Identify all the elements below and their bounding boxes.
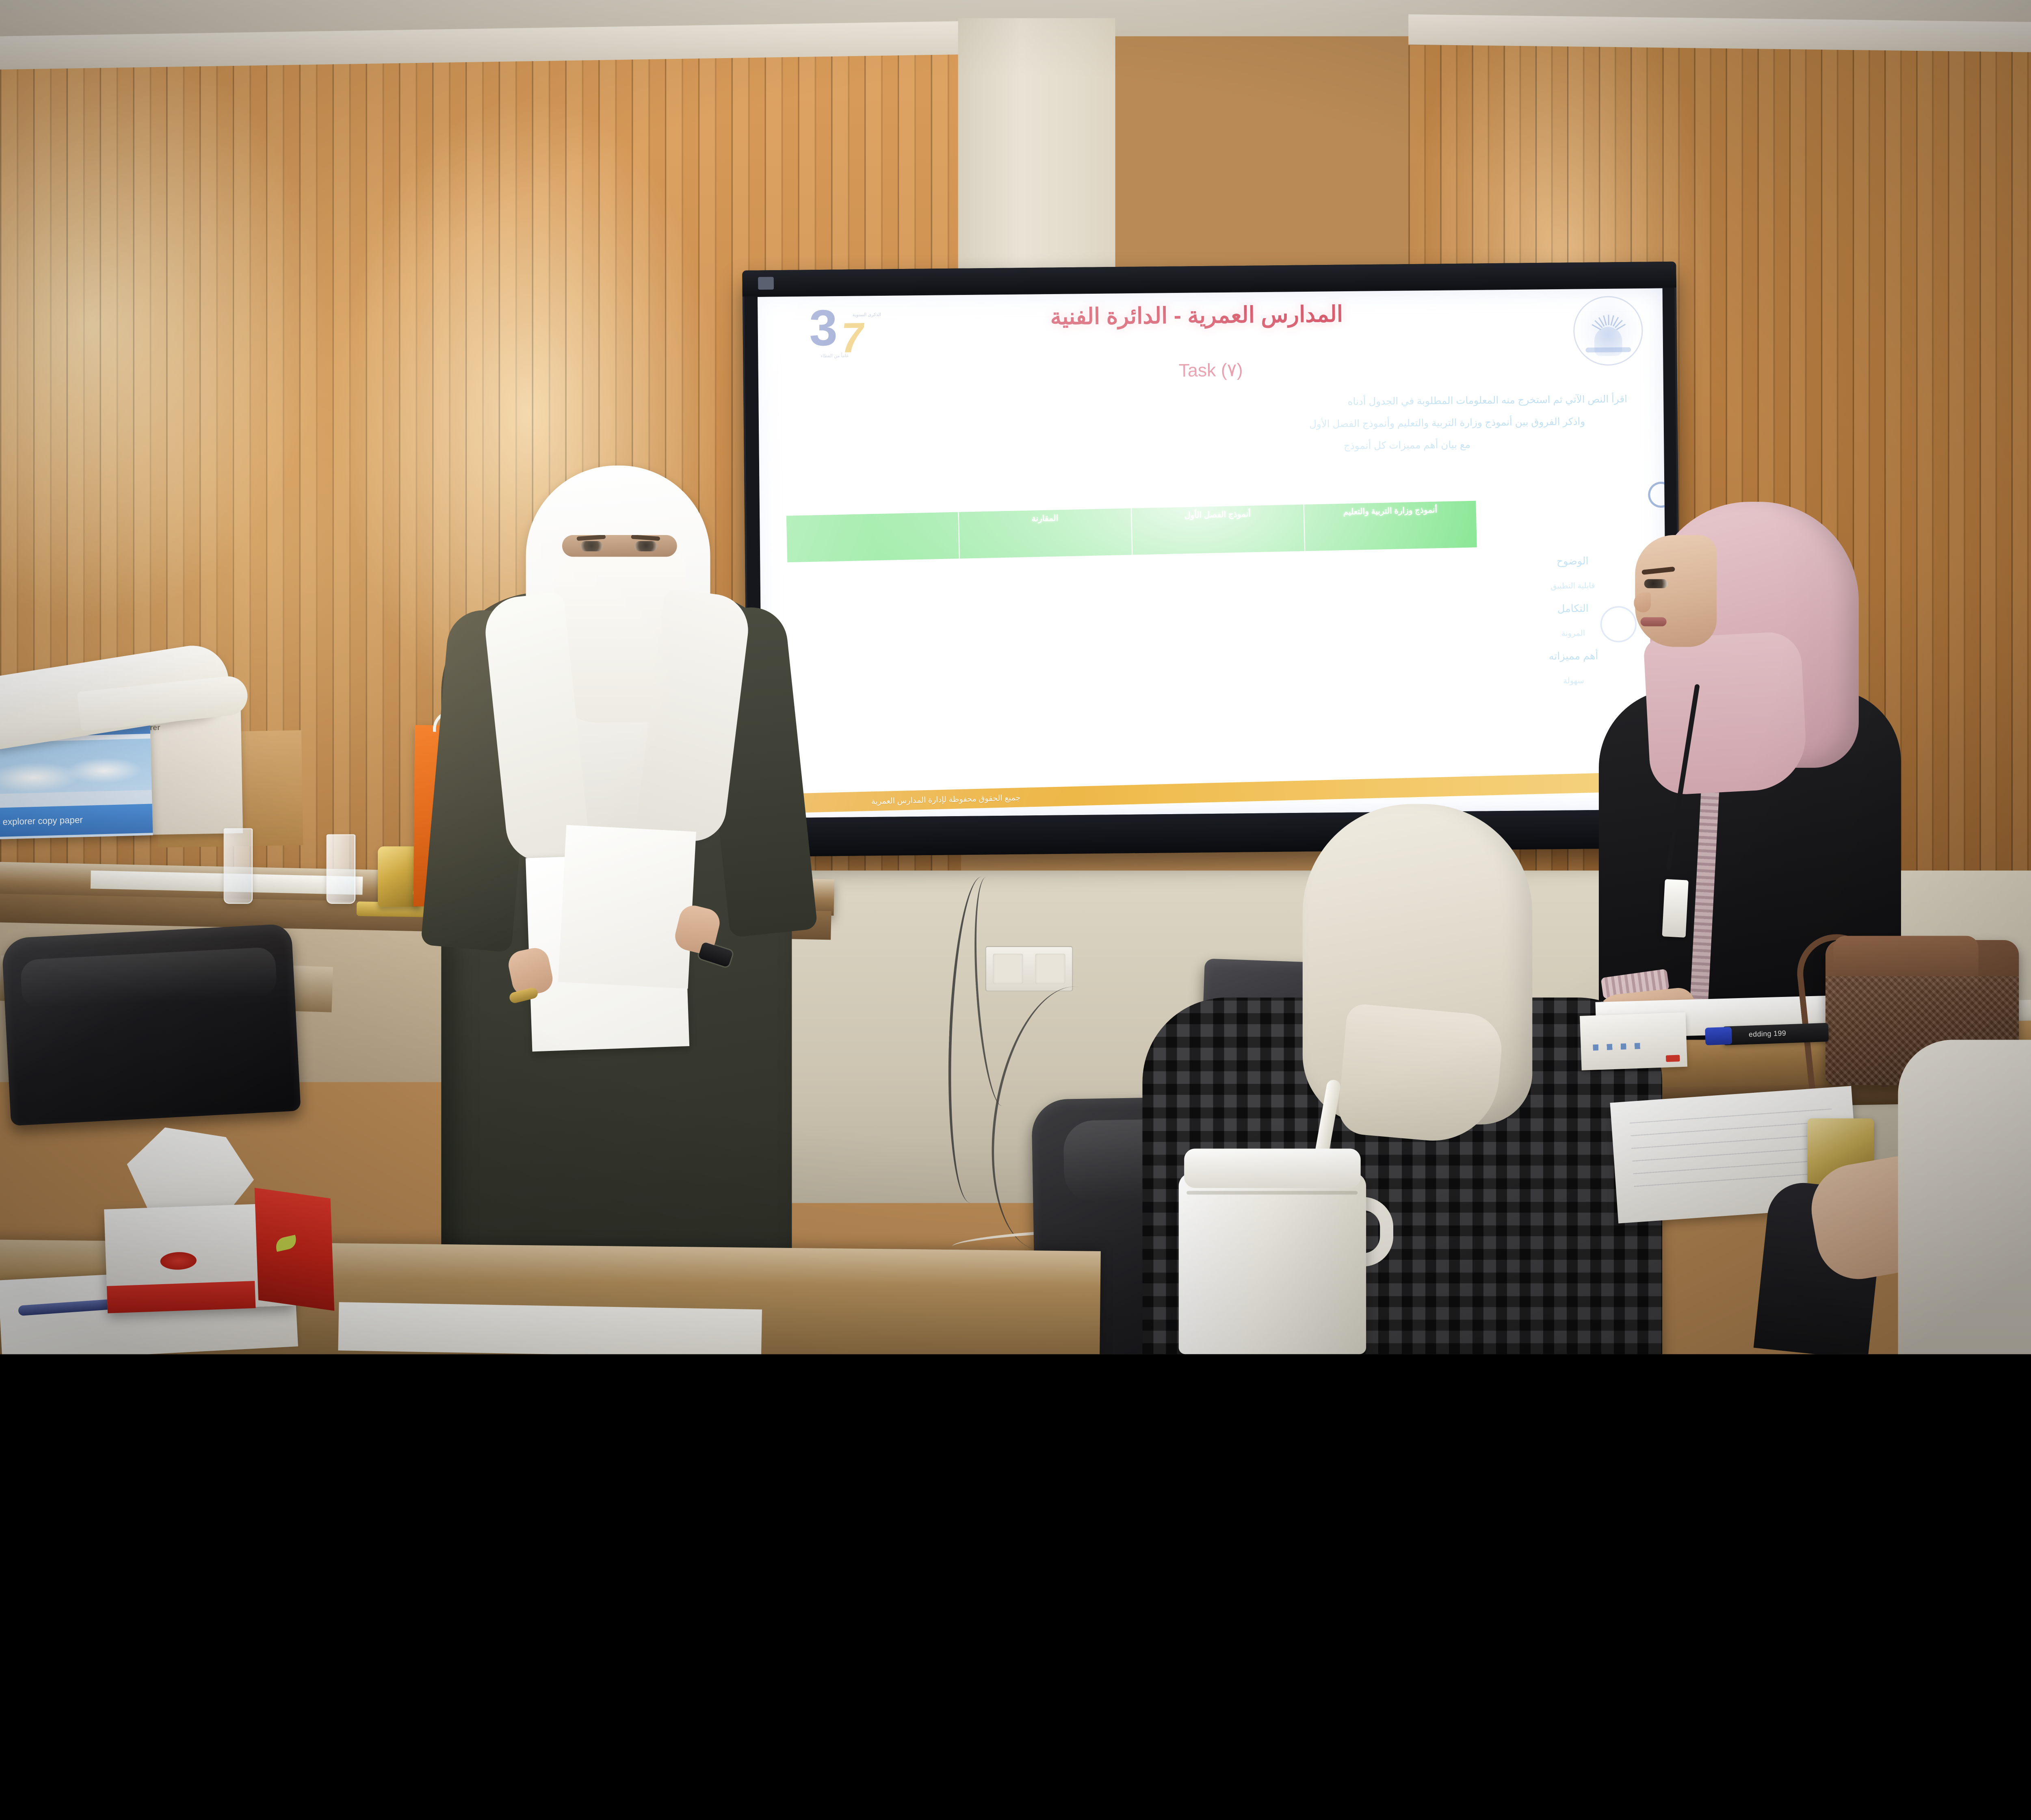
person-edge-sleeve	[1898, 1040, 2031, 1354]
lips	[1641, 617, 1667, 626]
tissue-box	[104, 1203, 295, 1312]
slide-body-line-1: اقرأ النص الآتي ثم استخرج منه المعلومات …	[789, 390, 1627, 416]
eye	[1644, 579, 1668, 588]
tumbler-lid	[1184, 1148, 1361, 1188]
tumbler-ridge	[1187, 1191, 1358, 1195]
small-product-box	[1580, 1012, 1687, 1070]
box-red-tag	[1666, 1055, 1680, 1062]
table-header-cell: أنموذج وزارة التربية والتعليم	[1303, 501, 1477, 551]
classroom-scene: 3 7 الذكرى السنوية عاماً من العطاء المدا…	[0, 0, 2031, 1354]
slide-footer-text: جميع الحقوق محفوظة لإدارة المدارس العمري…	[871, 793, 1021, 806]
table-header-cell: المقارنة	[958, 508, 1131, 559]
eyebrow-left	[576, 535, 606, 541]
presentation-slide: 3 7 الذكرى السنوية عاماً من العطاء المدا…	[758, 288, 1667, 818]
coordinator-hijab-drape	[1643, 631, 1808, 796]
anniversary-37-logo: 3 7 الذكرى السنوية عاماً من العطاء	[809, 307, 879, 361]
smartboard-sensor-icon	[758, 277, 774, 290]
table-header-cell	[786, 512, 959, 562]
presenter-eyes	[562, 535, 677, 557]
marker-brand-label: edding 199	[1749, 1029, 1786, 1039]
tissue-box-side-panel	[255, 1188, 335, 1311]
eyebrow-right	[631, 535, 660, 541]
paper-sheet-foreground	[338, 1302, 762, 1354]
slide-body-line-2: واذكر الفروق بين أنموذج وزارة التربية وا…	[789, 412, 1627, 438]
office-chair[interactable]	[1, 923, 301, 1126]
presenter-handout-paper	[558, 825, 696, 989]
tissue-box-red-band	[107, 1281, 256, 1313]
insulated-tumbler	[1179, 1173, 1366, 1354]
id-badge	[1662, 879, 1689, 938]
table-header-cell: أنموذج الفصل الأول	[1130, 505, 1304, 555]
slide-body-line-3: مع بيان أهم مميزات كل أنموذج	[789, 434, 1628, 460]
marker-cap	[1705, 1027, 1732, 1045]
crest-base	[1586, 347, 1631, 353]
disposable-cup	[224, 828, 253, 904]
person-presenter	[441, 466, 792, 1306]
slide-header: 3 7 الذكرى السنوية عاماً من العطاء المدا…	[770, 296, 1651, 362]
nose	[1634, 592, 1651, 612]
tissue-box-leaf-icon	[273, 1235, 300, 1252]
box-label-marks	[1593, 1043, 1647, 1051]
interactive-smart-board[interactable]: 3 7 الذكرى السنوية عاماً من العطاء المدا…	[742, 262, 1682, 857]
paper-box-subtitle: explorer copy paper	[2, 815, 83, 827]
slide-title: المدارس العمرية - الدائرة الفنية	[870, 299, 1524, 331]
logo-caption-bottom: عاماً من العطاء	[808, 353, 861, 359]
slide-comparison-table: أنموذج وزارة التربية والتعليم أنموذج الف…	[786, 500, 1478, 563]
eye-left	[580, 541, 603, 551]
smartboard-screen[interactable]: 3 7 الذكرى السنوية عاماً من العطاء المدا…	[758, 288, 1667, 818]
eye-right	[635, 541, 657, 551]
paper-box-bottom-band: explorer copy paper	[0, 804, 153, 837]
edge-person-garment	[1898, 1040, 2031, 1354]
slide-body-text: اقرأ النص الآتي ثم استخرج منه المعلومات …	[771, 377, 1652, 460]
coordinator-face	[1635, 535, 1717, 647]
logo-digit-3: 3	[809, 302, 836, 353]
disposable-cup	[327, 834, 355, 904]
whiteboard-marker[interactable]: edding 199	[1722, 1023, 1829, 1045]
paper-box-artwork	[0, 739, 152, 794]
tissue-box-logo-icon	[160, 1252, 197, 1270]
